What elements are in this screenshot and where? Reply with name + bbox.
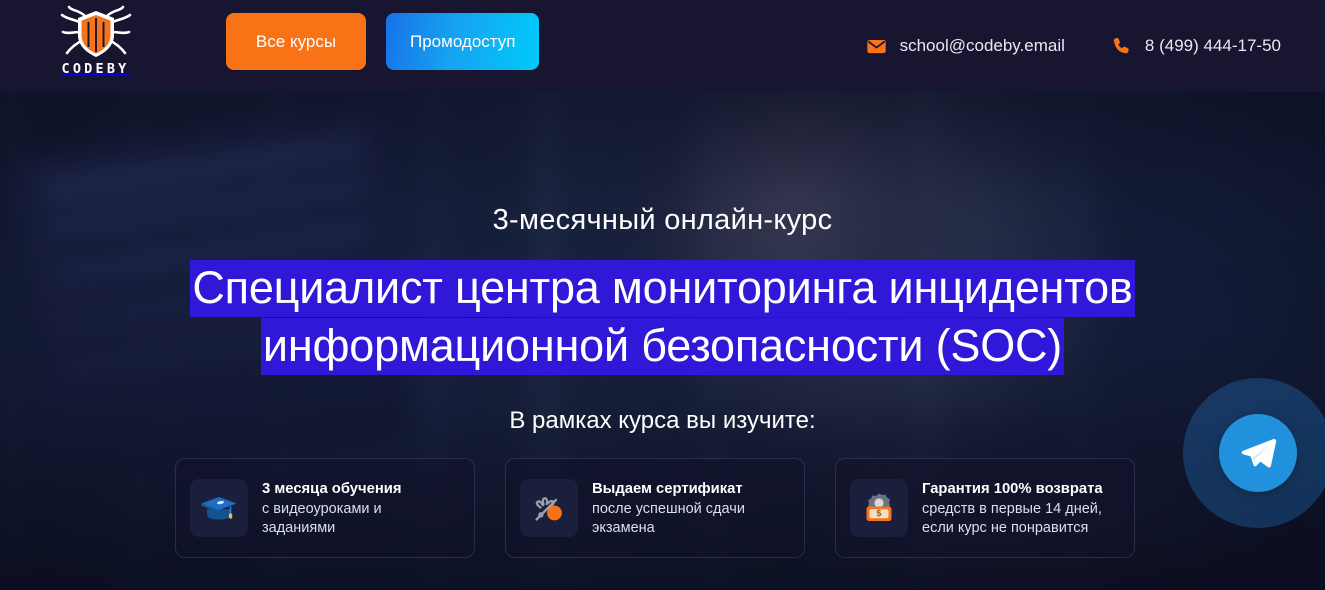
feature-card-duration-title: 3 месяца обучения [262, 479, 458, 499]
phone-text: 8 (499) 444-17-50 [1145, 36, 1281, 56]
feature-card-certificate-title: Выдаем сертификат [592, 479, 788, 499]
site-header: CODEBY Все курсы Промодоступ school@code… [0, 0, 1325, 92]
money-refund-icon: $ [859, 488, 899, 528]
feature-card-certificate-text: Выдаем сертификат после успешной сдачи э… [592, 479, 788, 538]
feature-card-refund-text: Гарантия 100% возврата средств в первые … [922, 479, 1118, 538]
feature-card-certificate-desc: после успешной сдачи экзамена [592, 500, 788, 538]
feature-cards: 3 месяца обучения с видеоуроками и задан… [175, 458, 1135, 558]
phone-icon [1111, 36, 1132, 57]
feature-card-duration: 3 месяца обучения с видеоуроками и задан… [175, 458, 475, 558]
codeby-spider-shield-logo [60, 5, 132, 61]
feature-card-refund-title: Гарантия 100% возврата [922, 479, 1118, 499]
phone-link[interactable]: 8 (499) 444-17-50 [1111, 36, 1281, 57]
feature-card-refund: $ Гарантия 100% возврата средств в первы… [835, 458, 1135, 558]
headline-line-2: информационной безопасности (SOC) [261, 318, 1064, 375]
hero-content: 3-месячный онлайн-курс Специалист центра… [0, 92, 1325, 590]
telegram-paper-plane-icon [1238, 433, 1278, 473]
svg-text:$: $ [876, 509, 882, 519]
certificate-award-icon-wrap [520, 479, 578, 537]
feature-card-duration-text: 3 месяца обучения с видеоуроками и задан… [262, 479, 458, 538]
email-link[interactable]: school@codeby.email [866, 36, 1065, 57]
headline-line-1: Специалист центра мониторинга инцидентов [190, 260, 1134, 317]
envelope-icon [866, 36, 887, 57]
certificate-award-icon [529, 488, 569, 528]
graduation-cap-icon [199, 488, 239, 528]
promo-access-button[interactable]: Промодоступ [386, 13, 539, 70]
telegram-button-circle[interactable] [1219, 414, 1297, 492]
all-courses-button[interactable]: Все курсы [226, 13, 366, 70]
logo-wordmark: CODEBY [62, 63, 130, 77]
hero-eyebrow: 3-месячный онлайн-курс [0, 204, 1325, 237]
page-title: Специалист центра мониторинга инцидентов… [0, 259, 1325, 375]
graduation-cap-icon-wrap [190, 479, 248, 537]
money-refund-icon-wrap: $ [850, 479, 908, 537]
feature-card-duration-desc: с видеоуроками и заданиями [262, 500, 458, 538]
telegram-float-button[interactable] [1183, 378, 1325, 528]
site-logo[interactable]: CODEBY [48, 5, 143, 85]
page-root: CODEBY Все курсы Промодоступ school@code… [0, 0, 1325, 590]
feature-card-refund-desc: средств в первые 14 дней, если курс не п… [922, 500, 1118, 538]
hero-section: 3-месячный онлайн-курс Специалист центра… [0, 92, 1325, 590]
email-text: school@codeby.email [900, 36, 1065, 56]
feature-card-certificate: Выдаем сертификат после успешной сдачи э… [505, 458, 805, 558]
hero-subline: В рамках курса вы изучите: [0, 407, 1325, 435]
header-contacts: school@codeby.email 8 (499) 444-17-50 [866, 0, 1281, 92]
header-nav-buttons: Все курсы Промодоступ [226, 13, 539, 70]
